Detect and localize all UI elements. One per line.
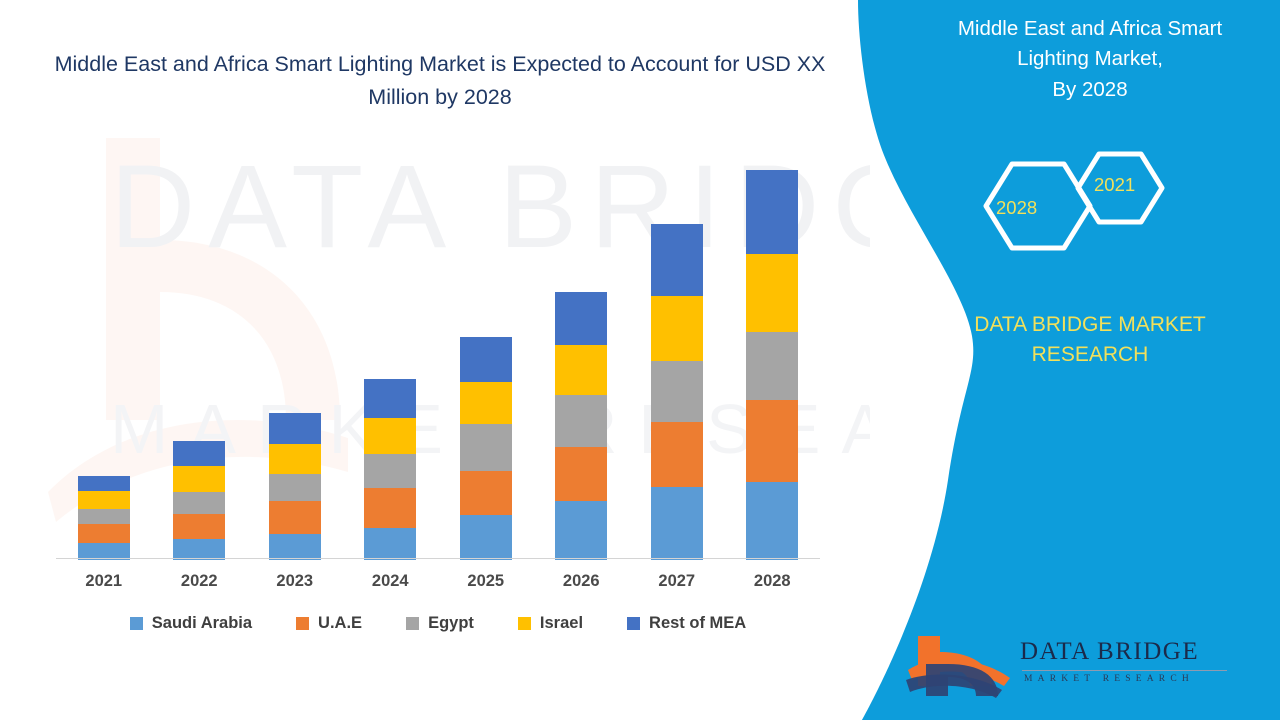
legend-swatch-icon — [518, 617, 531, 630]
year-hexagons: 2028 2021 — [970, 140, 1210, 275]
legend-label: Israel — [540, 614, 583, 633]
company-logo-mark-icon — [900, 630, 1018, 700]
legend-label: Egypt — [428, 614, 474, 633]
legend-item[interactable]: U.A.E — [296, 614, 362, 633]
legend-swatch-icon — [627, 617, 640, 630]
legend-label: U.A.E — [318, 614, 362, 633]
bar-segment — [364, 379, 416, 418]
bar-segment — [460, 424, 512, 471]
bar-segment — [651, 487, 703, 560]
bar-segment — [364, 418, 416, 455]
bar-column — [269, 413, 321, 560]
x-axis-tick-label: 2028 — [732, 572, 812, 591]
brand-content: Middle East and Africa Smart Lighting Ma… — [900, 0, 1280, 720]
bar-segment — [364, 488, 416, 528]
bar-segment — [173, 466, 225, 492]
legend-item[interactable]: Saudi Arabia — [130, 614, 252, 633]
bar-segment — [173, 492, 225, 514]
x-axis-labels: 20212022202320242025202620272028 — [56, 572, 820, 598]
x-axis-tick-label: 2023 — [255, 572, 335, 591]
bar-segment — [364, 528, 416, 560]
bar-segment — [460, 382, 512, 424]
bar-segment — [269, 444, 321, 474]
bar-column — [651, 224, 703, 560]
company-logo: DATA BRIDGE MARKET RESEARCH — [900, 630, 1240, 700]
company-logo-divider — [1022, 670, 1227, 671]
bar-column — [78, 476, 130, 560]
bar-segment — [460, 471, 512, 515]
legend-item[interactable]: Rest of MEA — [627, 614, 746, 633]
legend-label: Rest of MEA — [649, 614, 746, 633]
legend-item[interactable]: Israel — [518, 614, 583, 633]
bar-column — [746, 170, 798, 560]
infographic-slide: DATA BRIDGE MARKET RESEARCH Middle East … — [0, 0, 1280, 720]
bar-chart-plot — [56, 170, 820, 560]
bar-column — [364, 379, 416, 560]
bar-segment — [173, 514, 225, 539]
bar-segment — [555, 447, 607, 501]
bar-segment — [555, 501, 607, 560]
bar-segment — [78, 491, 130, 509]
bar-segment — [269, 501, 321, 533]
bar-segment — [269, 413, 321, 444]
x-axis-tick-label: 2027 — [637, 572, 717, 591]
bar-segment — [78, 524, 130, 543]
hexagon-2021-label: 2021 — [1094, 174, 1135, 196]
page-title: Middle East and Africa Smart Lighting Ma… — [40, 48, 840, 115]
hexagon-2028-label: 2028 — [996, 197, 1037, 219]
bar-column — [173, 441, 225, 560]
bar-segment — [460, 337, 512, 382]
bar-segment — [651, 296, 703, 362]
bar-column — [460, 337, 512, 560]
bar-segment — [746, 400, 798, 482]
bar-segment — [269, 474, 321, 501]
legend-swatch-icon — [130, 617, 143, 630]
brand-subtitle: DATA BRIDGE MARKET RESEARCH — [900, 310, 1280, 371]
bar-segment — [364, 454, 416, 487]
company-logo-name: DATA BRIDGE — [1020, 638, 1199, 666]
x-axis-tick-label: 2026 — [541, 572, 621, 591]
bar-segment — [78, 476, 130, 491]
bar-segment — [173, 441, 225, 466]
bar-segment — [555, 292, 607, 344]
x-axis-tick-label: 2021 — [64, 572, 144, 591]
chart-panel: DATA BRIDGE MARKET RESEARCH Middle East … — [0, 0, 870, 720]
brand-title: Middle East and Africa Smart Lighting Ma… — [900, 14, 1280, 105]
bar-segment — [555, 345, 607, 395]
legend-swatch-icon — [296, 617, 309, 630]
x-axis-tick-label: 2022 — [159, 572, 239, 591]
bar-segment — [746, 332, 798, 400]
legend-item[interactable]: Egypt — [406, 614, 474, 633]
x-axis-tick-label: 2024 — [350, 572, 430, 591]
company-logo-tagline: MARKET RESEARCH — [1024, 674, 1194, 684]
bar-segment — [555, 395, 607, 447]
chart-legend: Saudi ArabiaU.A.EEgyptIsraelRest of MEA — [56, 614, 820, 633]
bar-segment — [173, 539, 225, 560]
x-axis-tick-label: 2025 — [446, 572, 526, 591]
bar-segment — [460, 515, 512, 560]
legend-swatch-icon — [406, 617, 419, 630]
bar-segment — [746, 170, 798, 254]
legend-label: Saudi Arabia — [152, 614, 252, 633]
bar-segment — [746, 482, 798, 560]
bar-segment — [651, 224, 703, 295]
bar-segment — [651, 361, 703, 422]
bar-segment — [78, 509, 130, 525]
bar-segment — [651, 422, 703, 487]
bar-segment — [269, 534, 321, 560]
bar-segment — [746, 254, 798, 332]
bar-column — [555, 292, 607, 560]
x-axis-line — [56, 558, 820, 559]
